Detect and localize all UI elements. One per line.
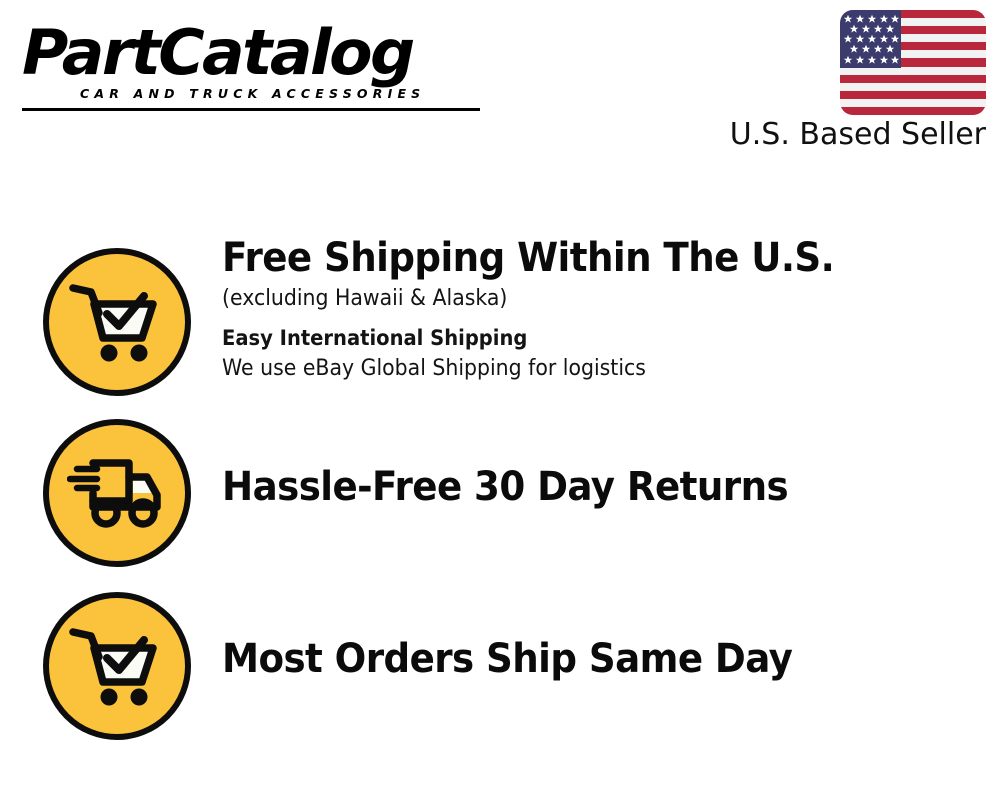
page-header: PartCatalog CAR AND TRUCK ACCESSORIES (0, 0, 1000, 170)
feature-text-block: Hassle-Free 30 Day Returns (222, 462, 982, 512)
feature-subheading: Easy International Shipping (222, 323, 929, 353)
brand-wordmark: PartCatalog (22, 22, 501, 84)
feature-item-free-shipping: Free Shipping Within The U.S. (excluding… (0, 230, 1000, 400)
feature-text-block: Free Shipping Within The U.S. (excluding… (222, 233, 982, 385)
us-based-seller-label: U.S. Based Seller (724, 117, 986, 153)
brand-tagline: CAR AND TRUCK ACCESSORIES (80, 87, 492, 101)
feature-item-same-day-ship: Most Orders Ship Same Day (0, 574, 1000, 744)
feature-text-block: Most Orders Ship Same Day (222, 634, 982, 684)
brand-underline-swoosh (22, 108, 480, 111)
feature-headline: Most Orders Ship Same Day (222, 634, 929, 684)
shopping-cart-check-icon (43, 248, 191, 396)
feature-subnote: (excluding Hawaii & Alaska) (222, 283, 929, 315)
feature-headline: Hassle-Free 30 Day Returns (222, 462, 929, 512)
shopping-cart-check-icon (43, 592, 191, 740)
feature-item-returns: Hassle-Free 30 Day Returns (0, 402, 1000, 572)
feature-headline: Free Shipping Within The U.S. (222, 233, 929, 283)
us-flag-icon (840, 10, 986, 115)
feature-subdetail: We use eBay Global Shipping for logistic… (222, 353, 929, 385)
delivery-truck-icon (43, 419, 191, 567)
brand-logo[interactable]: PartCatalog CAR AND TRUCK ACCESSORIES (22, 22, 492, 112)
flag-canton (840, 10, 901, 68)
